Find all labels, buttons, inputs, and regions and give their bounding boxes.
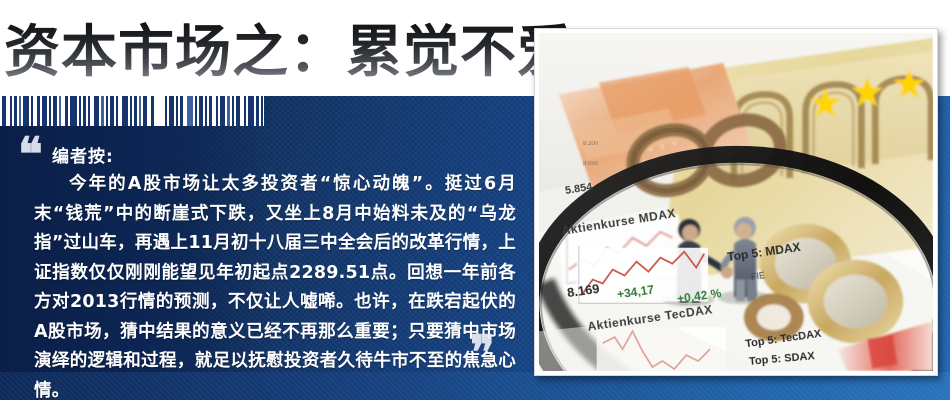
- barcode-bar: [195, 96, 197, 126]
- barcode-bar: [10, 96, 12, 126]
- barcode-bar: [2, 96, 6, 126]
- page-root: 资本市场之：累觉不爱 ❝ 编者按: 今年的A股市场让太多投资者“惊心动魄”。挺过…: [0, 0, 950, 400]
- barcode-bar: [180, 96, 183, 126]
- barcode-bar: [37, 96, 40, 126]
- barcode-bar: [256, 96, 259, 126]
- barcode-bar: [23, 96, 29, 126]
- editor-note-label: 编者按:: [52, 142, 114, 167]
- barcode-bar: [216, 96, 218, 126]
- barcode-bar: [14, 96, 17, 126]
- barcode-bar: [19, 96, 21, 126]
- barcode-bar: [79, 96, 81, 126]
- barcode-bar: [232, 96, 234, 126]
- barcode-bar: [236, 96, 240, 126]
- barcode-bar: [209, 96, 212, 126]
- barcode-bar: [42, 96, 47, 126]
- barcode-bar: [110, 96, 114, 126]
- barcode-bar: [261, 96, 263, 126]
- photo-image: 8.200 8.050 5.854 Aktienkurse MDAX 8.169…: [539, 33, 933, 371]
- barcode-bar: [130, 96, 132, 126]
- photo-frame: 8.200 8.050 5.854 Aktienkurse MDAX 8.169…: [534, 28, 938, 376]
- barcode-bar: [134, 96, 137, 126]
- barcode-bar: [116, 96, 118, 126]
- barcode-bar: [88, 96, 90, 126]
- barcode-decoration: [0, 96, 264, 126]
- barcode-bar: [199, 96, 203, 126]
- barcode-bar: [59, 96, 61, 126]
- photo-illustration: [539, 33, 933, 371]
- barcode-bar: [227, 96, 230, 126]
- barcode-bar: [165, 96, 167, 126]
- barcode-bar: [176, 96, 178, 126]
- barcode-bar: [151, 96, 154, 126]
- barcode-bar: [248, 96, 254, 126]
- barcode-bar: [31, 96, 33, 126]
- barcode-bar: [101, 96, 104, 126]
- barcode-bar: [220, 96, 225, 126]
- barcode-bar: [205, 96, 207, 126]
- barcode-bar: [83, 96, 86, 126]
- page-title: 资本市场之：累觉不爱: [4, 22, 574, 84]
- barcode-bar: [244, 96, 246, 126]
- barcode-bar: [139, 96, 141, 126]
- barcode-bar: [106, 96, 108, 126]
- barcode-bar: [143, 96, 147, 126]
- barcode-bar: [53, 96, 57, 126]
- barcode-bar: [65, 96, 68, 126]
- barcode-bar: [187, 96, 193, 126]
- barcode-bar: [49, 96, 51, 126]
- barcode-bar: [169, 96, 174, 126]
- barcode-bar: [94, 96, 99, 126]
- barcode-bar: [70, 96, 77, 126]
- quote-close-icon: ❞: [470, 330, 495, 376]
- editor-note-body: 今年的A股市场让太多投资者“惊心动魄”。挺过6月末“钱荒”中的断崖式下跌，又坐上…: [34, 170, 516, 400]
- barcode-bar: [122, 96, 128, 126]
